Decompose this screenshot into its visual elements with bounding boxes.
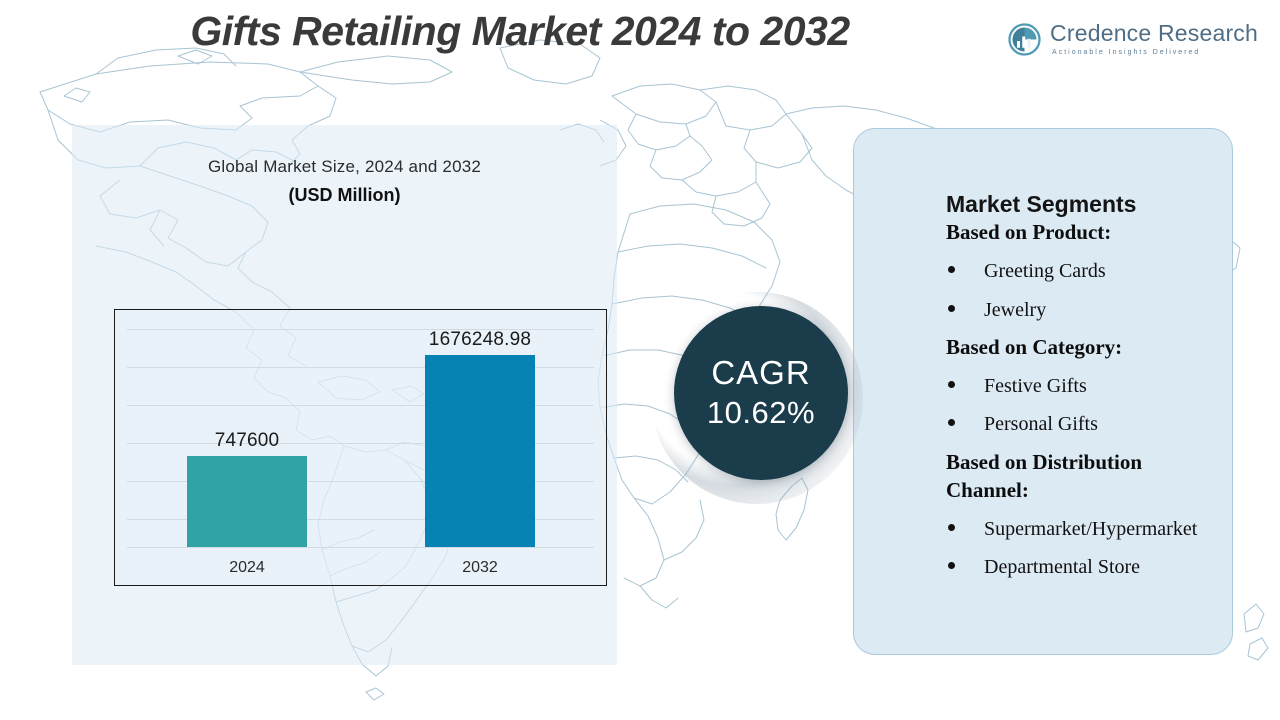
chart-heading: Global Market Size, 2024 and 2032 (USD M… [72,157,617,206]
segment-list-distribution: Supermarket/Hypermarket Departmental Sto… [946,515,1222,582]
bar-value-2024: 747600 [143,430,351,452]
segment-item-label: Festive Gifts [984,375,1087,397]
brand-name: Credence Research [1050,22,1258,45]
x-axis-label-2032: 2032 [425,559,535,577]
page-title: Gifts Retailing Market 2024 to 2032 [0,8,1040,55]
segment-list-category: Festive Gifts Personal Gifts [946,372,1222,439]
market-segments-title: Market Segments [946,191,1222,217]
bar-chart-circle-icon [1008,23,1041,56]
bullet-icon [948,266,955,273]
brand-text: Credence Research Actionable Insights De… [1050,22,1258,56]
bar-value-2032: 1676248.98 [365,329,595,351]
list-item: Departmental Store [946,553,1222,581]
segment-item-label: Personal Gifts [984,413,1098,435]
x-axis-label-2024: 2024 [187,559,307,577]
list-item: Personal Gifts [946,410,1222,438]
segment-item-label: Supermarket/Hypermarket [984,518,1197,540]
bar-chart: 747600 1676248.98 2024 2032 [114,309,607,586]
cagr-circle: CAGR 10.62% [674,306,848,480]
bullet-icon [948,381,955,388]
cagr-badge: CAGR 10.62% [651,292,863,504]
bullet-icon [948,419,955,426]
infographic-canvas: Gifts Retailing Market 2024 to 2032 Cred… [0,0,1280,720]
market-segments-content: Market Segments Based on Product: Greeti… [946,191,1222,591]
bar-2032 [425,355,535,547]
chart-plot-area: 747600 1676248.98 2024 2032 [115,310,606,585]
list-item: Greeting Cards [946,257,1222,285]
segment-group-heading-distribution: Based on Distribution Channel: [946,449,1222,505]
segment-list-product: Greeting Cards Jewelry [946,257,1222,324]
segment-item-label: Departmental Store [984,556,1140,578]
bullet-icon [948,305,955,312]
segment-item-label: Jewelry [984,299,1046,321]
segment-group-heading-category: Based on Category: [946,334,1222,362]
brand-logo: Credence Research Actionable Insights De… [1008,22,1258,56]
cagr-value: 10.62% [707,394,815,431]
list-item: Jewelry [946,296,1222,324]
chart-heading-line1: Global Market Size, 2024 and 2032 [72,157,617,177]
segment-group-heading-product: Based on Product: [946,219,1222,247]
segment-item-label: Greeting Cards [984,260,1106,282]
cagr-label: CAGR [711,355,810,391]
bullet-icon [948,562,955,569]
brand-tagline: Actionable Insights Delivered [1052,49,1258,56]
list-item: Supermarket/Hypermarket [946,515,1222,543]
bar-2024 [187,456,307,547]
chart-heading-line2: (USD Million) [72,185,617,206]
bullet-icon [948,524,955,531]
market-segments-panel: Market Segments Based on Product: Greeti… [853,128,1233,655]
list-item: Festive Gifts [946,372,1222,400]
